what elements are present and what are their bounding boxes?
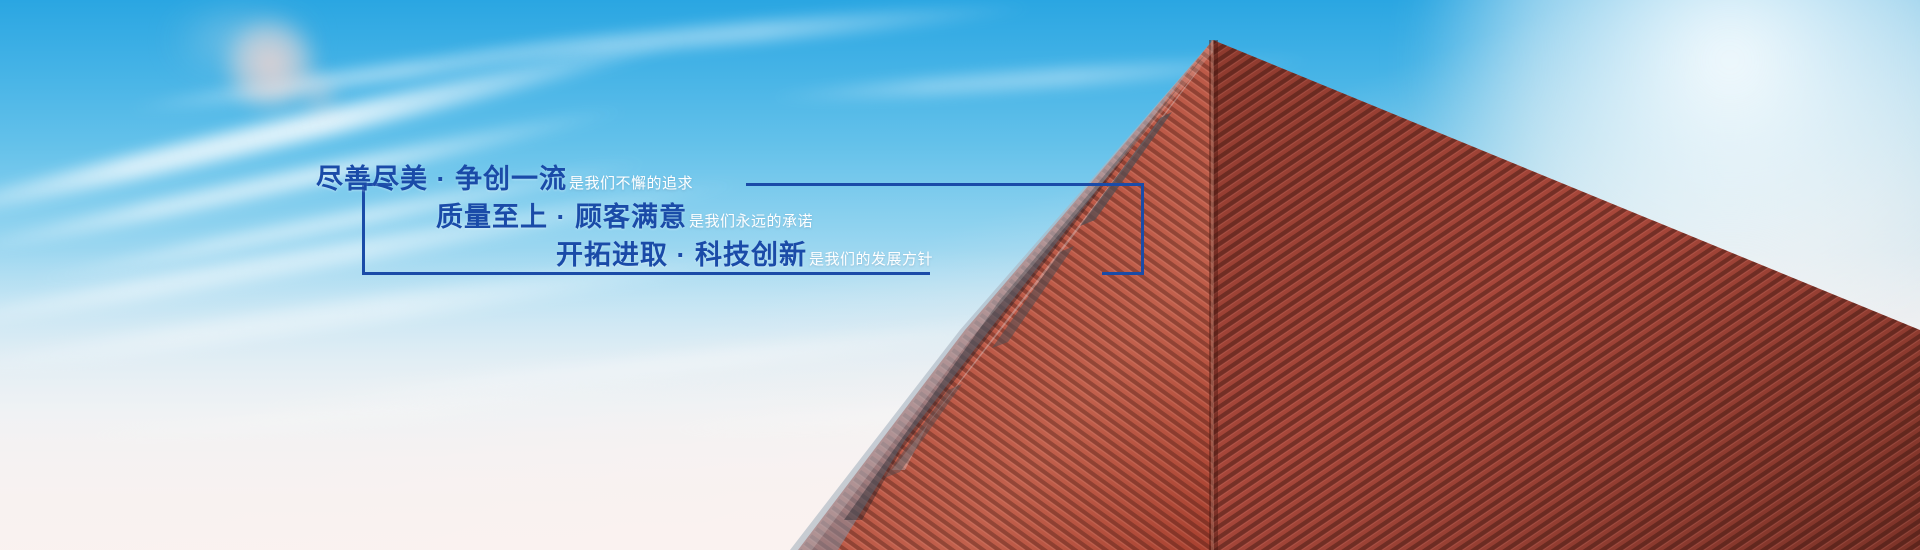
building-face-right [1213, 40, 1920, 550]
cirrus-cloud [900, 334, 1600, 387]
building-corner-highlight [1211, 40, 1214, 550]
sky-backdrop [0, 0, 1920, 550]
slogan-line-1: 尽善尽美 · 争创一流 是我们不懈的追求 [316, 157, 693, 196]
cirrus-cloud [241, 305, 1138, 419]
slogan-tail-3: 是我们的发展方针 [809, 248, 933, 269]
cirrus-cloud [61, 372, 760, 447]
cirrus-cloud [420, 0, 1039, 71]
frame-bottom-rule [362, 272, 930, 275]
building-photo [0, 0, 1920, 550]
slogan-block: 尽善尽美 · 争创一流 是我们不懈的追求 质量至上 · 顾客满意 是我们永远的承… [362, 183, 1144, 275]
horizon-haze [0, 250, 1920, 550]
building-edge-light [790, 40, 1213, 550]
sun-glow [1380, 0, 1920, 340]
building-glass-shadow [844, 54, 1206, 520]
cirrus-cloud [121, 30, 638, 118]
frame-bottom-rule-right [1102, 272, 1144, 275]
frame-left-rule [362, 183, 365, 275]
lens-flare-icon [298, 74, 340, 116]
slogan-tail-2: 是我们永远的承诺 [689, 210, 813, 231]
slogan-tail-1: 是我们不懈的追求 [569, 172, 693, 193]
slogan-headline-2: 质量至上 · 顾客满意 [436, 195, 687, 234]
building-cornice [884, 384, 962, 478]
slogan-line-3: 开拓进取 · 科技创新 是我们的发展方针 [556, 233, 933, 272]
building-illustration [0, 0, 1920, 550]
lens-flare-icon [228, 22, 314, 108]
hero-banner: 尽善尽美 · 争创一流 是我们不懈的追求 质量至上 · 顾客满意 是我们永远的承… [0, 0, 1920, 550]
slogan-headline-1: 尽善尽美 · 争创一流 [316, 157, 567, 196]
frame-right-rule [1141, 183, 1144, 275]
building-glass-band [790, 40, 1213, 550]
cirrus-cloud [760, 50, 1320, 107]
lens-flare-icon [168, 8, 318, 72]
building-face-left [798, 40, 1213, 550]
cirrus-cloud [640, 361, 1539, 442]
building-corner-edge [1209, 40, 1218, 550]
slogan-line-2: 质量至上 · 顾客满意 是我们永远的承诺 [436, 195, 813, 234]
frame-top-rule-right [746, 183, 1144, 186]
slogan-headline-3: 开拓进取 · 科技创新 [556, 233, 807, 272]
